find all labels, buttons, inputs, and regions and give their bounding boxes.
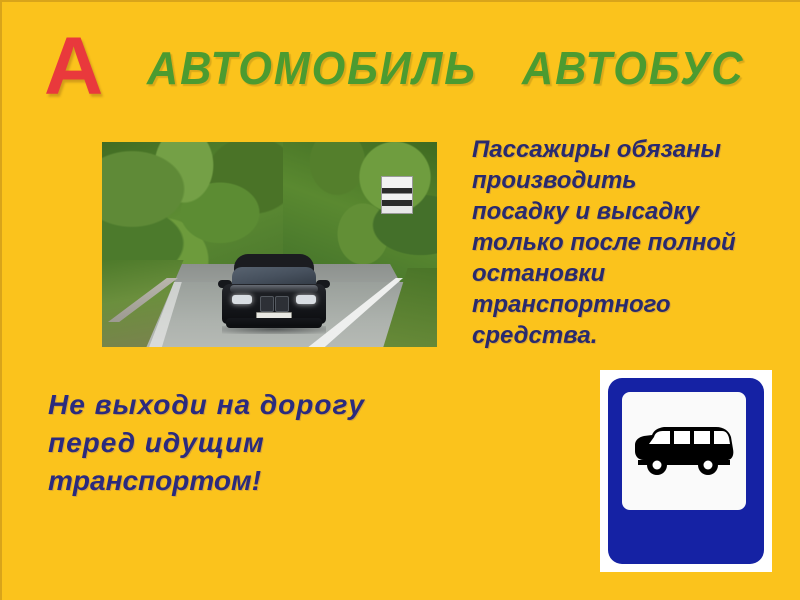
slide-canvas: А АВТОМОБИЛЬ АВТОБУС bbox=[0, 0, 800, 600]
car-headlight-right bbox=[296, 295, 316, 304]
rules-line-7: средства. bbox=[472, 320, 792, 351]
warning-line-3: транспортом! bbox=[48, 462, 478, 500]
car-hood-highlight bbox=[230, 285, 318, 293]
photo-car bbox=[220, 254, 328, 332]
car-grille-right bbox=[275, 296, 289, 312]
road-sign-plate bbox=[608, 378, 764, 564]
warning-line-2: перед идущим bbox=[48, 424, 478, 462]
road-sign-bus-stop bbox=[600, 370, 772, 572]
rules-line-5: остановки bbox=[472, 258, 792, 289]
rules-line-3: посадку и высадку bbox=[472, 196, 792, 227]
car-headlight-left bbox=[232, 295, 252, 304]
title-word-avtobus: АВТОБУС bbox=[522, 44, 744, 92]
rules-line-1: Пассажиры обязаны bbox=[472, 134, 792, 165]
rules-line-4: только после полной bbox=[472, 227, 792, 258]
title-row: А АВТОМОБИЛЬ АВТОБУС bbox=[2, 30, 800, 118]
car-shadow bbox=[222, 326, 326, 334]
road-sign-pictogram-field bbox=[622, 392, 746, 510]
rules-line-2: производить bbox=[472, 165, 792, 196]
warning-line-1: Не выходи на дорогу bbox=[48, 386, 478, 424]
initial-letter-a: А bbox=[44, 26, 102, 108]
photo-roadside-sign bbox=[381, 176, 413, 214]
car-grille-left bbox=[260, 296, 274, 312]
rules-line-6: транспортного bbox=[472, 289, 792, 320]
photo-car-on-road bbox=[102, 142, 437, 347]
bus-icon bbox=[632, 423, 736, 479]
title-word-avtomobil: АВТОМОБИЛЬ bbox=[147, 44, 477, 92]
warning-text: Не выходи на дорогу перед идущим транспо… bbox=[48, 386, 478, 500]
passenger-rules-text: Пассажиры обязаны производить посадку и … bbox=[472, 134, 792, 351]
